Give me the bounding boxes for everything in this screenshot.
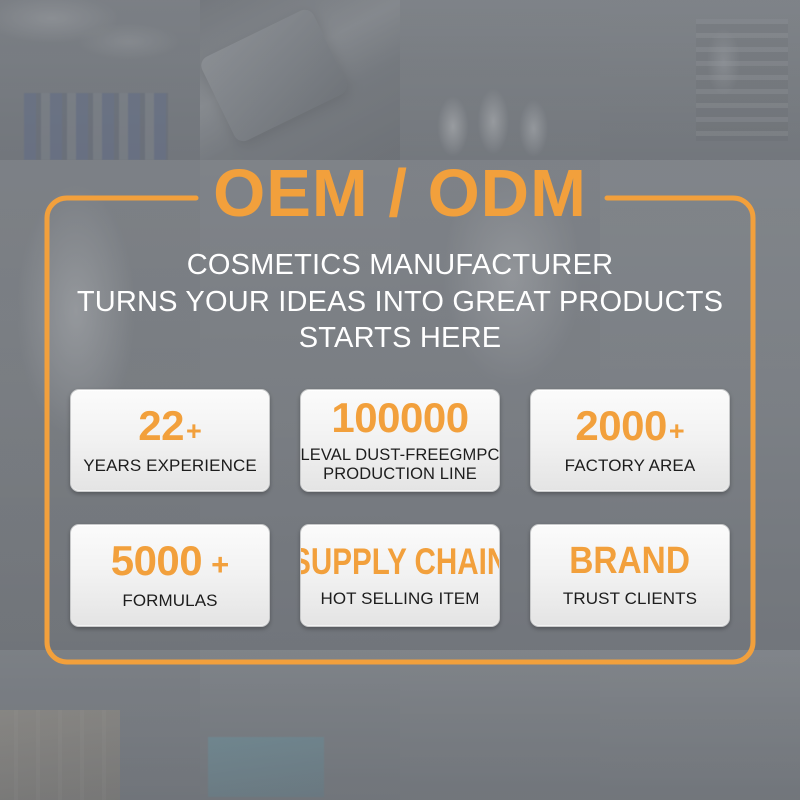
stats-card-grid: 22 + YEARS EXPERIENCE 100000 LEVAL DUST-… — [70, 389, 730, 627]
stat-label-line: PRODUCTION LINE — [300, 465, 499, 483]
stat-card-supply-chain: SUPPLY CHAIN HOT SELLING ITEM — [300, 524, 500, 627]
stat-card-production-line: 100000 LEVAL DUST-FREEGMPC PRODUCTION LI… — [300, 389, 500, 492]
stat-card-years-experience: 22 + YEARS EXPERIENCE — [70, 389, 270, 492]
stat-label: LEVAL DUST-FREEGMPC PRODUCTION LINE — [300, 446, 499, 483]
stat-value: 2000 + — [575, 405, 684, 447]
stat-value: 5000 + — [111, 540, 230, 582]
subheadline-line-3: STARTS HERE — [77, 320, 723, 357]
stat-label: TRUST CLIENTS — [563, 589, 697, 608]
stat-value: SUPPLY CHAIN — [300, 543, 500, 580]
stat-label-line: FORMULAS — [122, 591, 217, 610]
page-title: OEM / ODM — [213, 160, 587, 227]
stat-label-line: HOT SELLING ITEM — [320, 589, 479, 608]
stat-value: 100000 — [331, 397, 468, 439]
stat-label-line: YEARS EXPERIENCE — [83, 456, 257, 475]
subheadline-line-2: TURNS YOUR IDEAS INTO GREAT PRODUCTS — [77, 284, 723, 321]
stat-number: 5000 — [111, 540, 202, 582]
stat-value: 22 + — [138, 405, 202, 447]
stat-card-brand: BRAND TRUST CLIENTS — [530, 524, 730, 627]
stat-label: FACTORY AREA — [565, 456, 696, 475]
stat-number: 2000 — [575, 405, 666, 447]
subheadline-line-1: COSMETICS MANUFACTURER — [77, 247, 723, 284]
stat-label-line: LEVAL DUST-FREEGMPC — [300, 446, 499, 464]
banner-content: OEM / ODM COSMETICS MANUFACTURER TURNS Y… — [0, 0, 800, 800]
stat-card-factory-area: 2000 + FACTORY AREA — [530, 389, 730, 492]
stat-label: YEARS EXPERIENCE — [83, 456, 257, 475]
stat-suffix: + — [211, 549, 229, 580]
stat-suffix: + — [186, 418, 202, 445]
stat-card-formulas: 5000 + FORMULAS — [70, 524, 270, 627]
stat-number: 22 — [138, 405, 184, 447]
stat-suffix: + — [669, 418, 685, 445]
stat-number: 100000 — [331, 397, 468, 439]
stat-label: HOT SELLING ITEM — [320, 589, 479, 608]
oem-odm-banner: OEM / ODM COSMETICS MANUFACTURER TURNS Y… — [0, 0, 800, 800]
stat-label: FORMULAS — [122, 591, 217, 610]
stat-label-line: TRUST CLIENTS — [563, 589, 697, 608]
subheadline: COSMETICS MANUFACTURER TURNS YOUR IDEAS … — [77, 247, 723, 357]
stat-value: BRAND — [570, 542, 691, 580]
stat-label-line: FACTORY AREA — [565, 456, 696, 475]
